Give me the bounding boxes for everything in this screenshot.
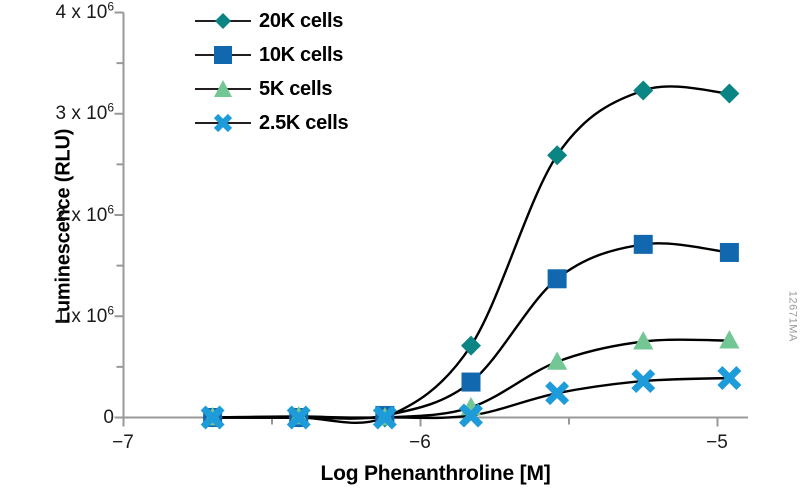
legend-item-2-5k[interactable]: 2.5K cells <box>193 106 348 140</box>
legend-item-5k[interactable]: 5K cells <box>193 72 348 106</box>
data-point-cross <box>548 384 567 403</box>
data-point-diamond <box>633 80 653 100</box>
legend-label-2-5k: 2.5K cells <box>253 112 348 135</box>
legend-item-20k[interactable]: 20K cells <box>193 4 348 38</box>
legend-label-20k: 20K cells <box>253 10 343 33</box>
chart-legend: 20K cells 10K cells 5K cells <box>193 4 348 140</box>
data-point-diamond <box>547 145 567 165</box>
legend-marker-square-icon <box>193 41 253 69</box>
data-point-triangle <box>547 351 567 369</box>
data-point-square <box>634 235 653 254</box>
legend-marker-triangle-icon <box>193 75 253 103</box>
legend-marker-diamond-icon <box>193 7 253 35</box>
data-point-diamond <box>461 336 481 356</box>
data-point-square <box>548 269 567 288</box>
legend-item-10k[interactable]: 10K cells <box>193 38 348 72</box>
data-point-square <box>720 243 739 262</box>
figure-code: 12671MA <box>786 291 798 342</box>
data-point-square <box>461 373 480 392</box>
series-line-10k-cells <box>213 243 730 418</box>
chart-figure: Luminescence (RLU) Log Phenanthroline [M… <box>0 0 800 495</box>
data-point-diamond <box>719 84 739 104</box>
plot-area <box>0 0 800 495</box>
legend-label-5k: 5K cells <box>253 78 332 101</box>
legend-marker-cross-icon <box>193 109 253 137</box>
legend-label-10k: 10K cells <box>253 44 343 67</box>
